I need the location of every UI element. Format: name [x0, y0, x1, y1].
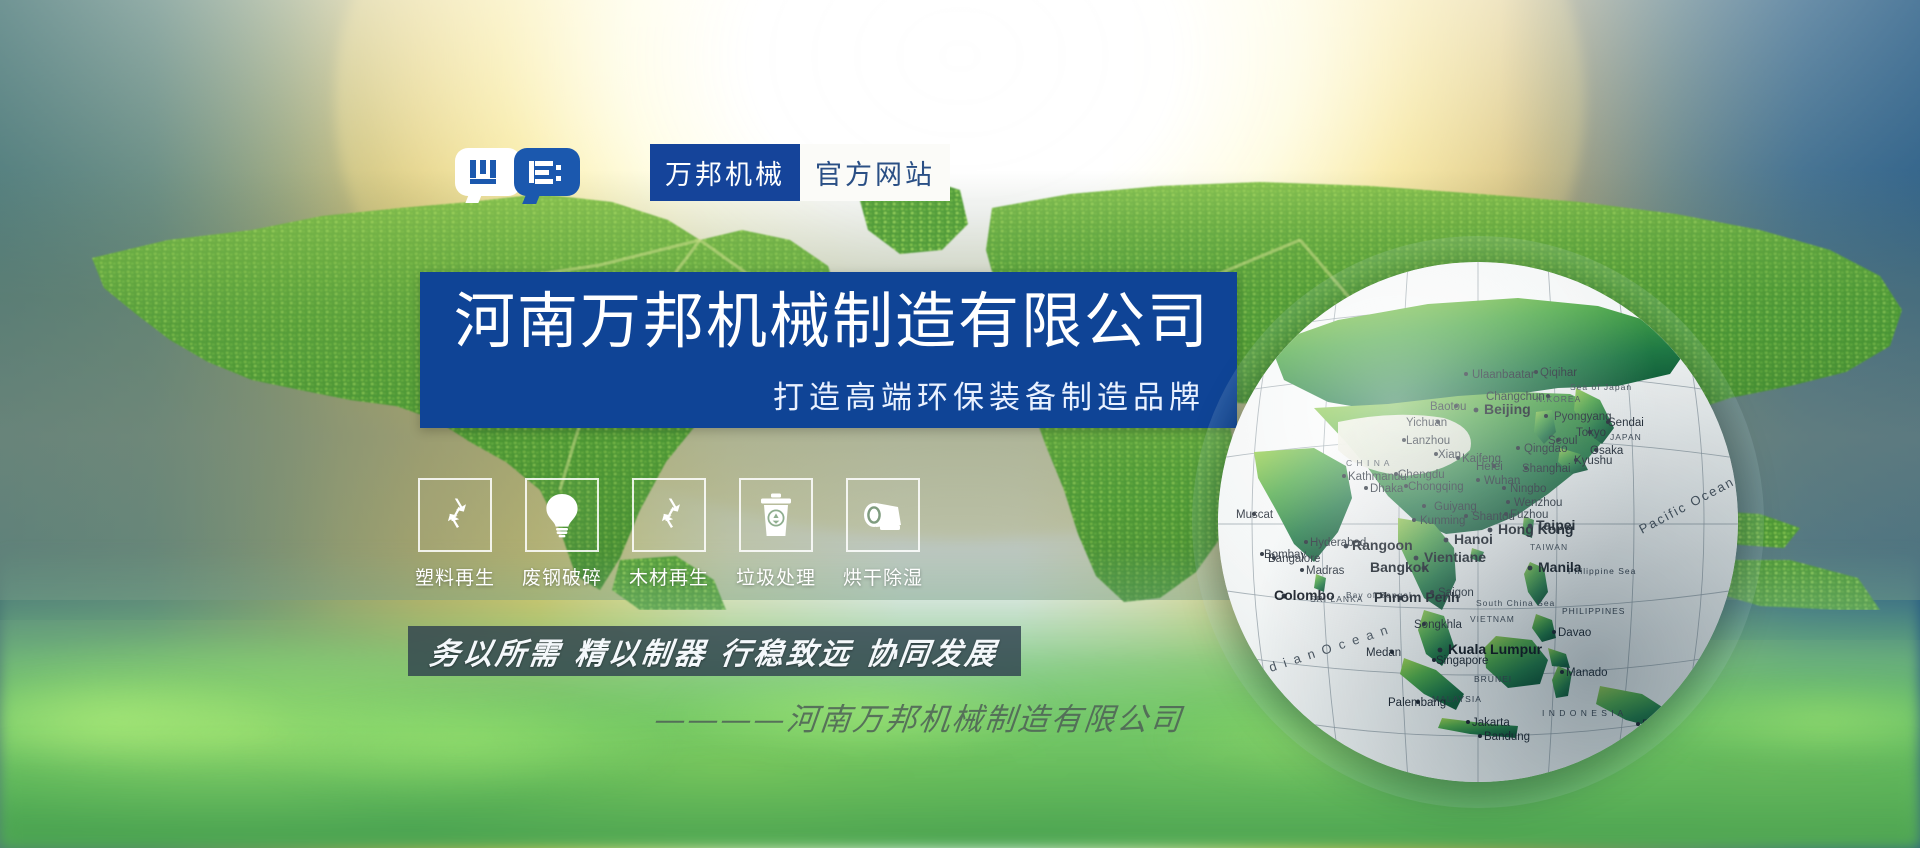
svg-text:Dhaka: Dhaka [1370, 483, 1404, 495]
svg-text:Jakarta: Jakarta [1472, 717, 1510, 729]
svg-text:Beijing: Beijing [1484, 401, 1531, 417]
feature-icon-row: 塑料再生 废钢破碎 [420, 478, 918, 590]
svg-text:Shantou: Shantou [1472, 511, 1515, 523]
svg-text:TAIWAN: TAIWAN [1530, 542, 1568, 552]
svg-text:Songkhla: Songkhla [1414, 619, 1463, 631]
feature-icon-frame [632, 478, 706, 552]
svg-text:Ulaanbaatar: Ulaanbaatar [1472, 369, 1535, 381]
svg-text:Muscat: Muscat [1236, 509, 1274, 521]
recycle-icon [433, 493, 477, 537]
feature-label: 烘干除湿 [843, 563, 923, 590]
brand-name-chip[interactable]: 万邦机械 [650, 144, 800, 201]
svg-text:VIETNAM: VIETNAM [1470, 614, 1515, 624]
svg-text:Vientiane: Vientiane [1424, 549, 1486, 565]
hero-title-box: 河南万邦机械制造有限公司 打造高端环保装备制造品牌 [420, 272, 1237, 428]
svg-text:Guiyang: Guiyang [1434, 501, 1477, 513]
feature-icon-frame [525, 478, 599, 552]
banner-stage: 万邦机械 官方网站 河南万邦机械制造有限公司 打造高端环保装备制造品牌 塑料再生 [0, 0, 1920, 848]
svg-text:Manado: Manado [1566, 667, 1608, 679]
svg-text:PHILIPPINES: PHILIPPINES [1562, 606, 1625, 616]
slogan-signature: ————河南万邦机械制造有限公司 [653, 694, 1186, 739]
svg-text:Ningbo: Ningbo [1510, 483, 1546, 495]
svg-text:Qingdao: Qingdao [1524, 443, 1567, 455]
svg-text:Bangalore: Bangalore [1268, 553, 1320, 565]
feature-label: 塑料再生 [415, 563, 495, 590]
svg-text:Qiqihar: Qiqihar [1540, 367, 1577, 379]
svg-text:Davao: Davao [1558, 627, 1591, 639]
feature-icon-frame [739, 478, 813, 552]
svg-text:Fuzhou: Fuzhou [1510, 509, 1548, 521]
svg-text:Shanghai: Shanghai [1522, 463, 1571, 475]
feature-label: 废钢破碎 [522, 563, 602, 590]
feature-item-waste-treatment[interactable]: 垃圾处理 [741, 478, 811, 590]
slogan-text: 务以所需 精以制器 行稳致远 协同发展 [428, 629, 1002, 673]
svg-text:I N D O N E S I A: I N D O N E S I A [1542, 708, 1624, 718]
letter-b-icon [529, 160, 563, 186]
svg-text:Kyushu: Kyushu [1574, 455, 1612, 467]
wb-speech-bubble-logo[interactable] [455, 148, 580, 196]
svg-text:Manila: Manila [1538, 559, 1582, 575]
lightbulb-icon [541, 492, 583, 538]
feature-icon-frame [846, 478, 920, 552]
svg-text:C H I N A: C H I N A [1346, 458, 1390, 468]
svg-text:Singapore: Singapore [1436, 655, 1488, 667]
feature-label: 木材再生 [629, 563, 709, 590]
blower-dryer-icon [860, 497, 906, 533]
trash-bin-icon [759, 492, 793, 538]
page-title: 河南万邦机械制造有限公司 [454, 291, 1210, 352]
svg-text:Pyongyang: Pyongyang [1554, 411, 1612, 423]
svg-text:South China Sea: South China Sea [1476, 598, 1555, 608]
svg-text:Tokyo: Tokyo [1576, 427, 1606, 439]
svg-text:Bandung: Bandung [1484, 731, 1530, 743]
svg-text:Changchun: Changchun [1486, 391, 1545, 403]
svg-text:Kunming: Kunming [1420, 515, 1465, 527]
svg-text:Palembang: Palembang [1388, 697, 1446, 709]
feature-label: 垃圾处理 [736, 563, 816, 590]
letter-w-icon [469, 160, 505, 186]
svg-text:Medan: Medan [1366, 647, 1401, 659]
globe-graphic: Pacific Ocean I n d i a n O c e a n Sout… [1218, 262, 1738, 782]
svg-text:Baotou: Baotou [1430, 401, 1466, 413]
svg-text:Lanzhou: Lanzhou [1406, 435, 1450, 447]
svg-text:Madras: Madras [1306, 565, 1345, 577]
slogan-banner: 务以所需 精以制器 行稳致远 协同发展 [408, 626, 1021, 676]
svg-text:Saigon: Saigon [1438, 587, 1474, 599]
svg-text:Hanoi: Hanoi [1454, 531, 1493, 547]
nav-chip-group: 万邦机械 官方网站 [650, 144, 950, 201]
svg-text:Sea of Japan: Sea of Japan [1570, 382, 1632, 392]
svg-text:Colombo: Colombo [1274, 587, 1335, 603]
page-subtitle: 打造高端环保装备制造品牌 [773, 372, 1205, 417]
svg-text:Wenzhou: Wenzhou [1514, 497, 1562, 509]
svg-text:Kaifeng: Kaifeng [1462, 453, 1501, 465]
recycle-icon [647, 493, 691, 537]
feature-icon-frame [418, 478, 492, 552]
svg-text:JAPAN: JAPAN [1610, 432, 1642, 442]
brand-header: 万邦机械 官方网站 [455, 143, 950, 201]
svg-text:Chongqing: Chongqing [1408, 481, 1464, 493]
feature-item-wood-recycling[interactable]: 木材再生 [634, 478, 704, 590]
official-site-chip[interactable]: 官方网站 [800, 144, 950, 201]
feature-item-drying-dehumidify[interactable]: 烘干除湿 [848, 478, 918, 590]
globe-sphere: Pacific Ocean I n d i a n O c e a n Sout… [1218, 262, 1738, 782]
svg-text:Yichuan: Yichuan [1406, 417, 1447, 429]
feature-item-steel-crushing[interactable]: 废钢破碎 [527, 478, 597, 590]
svg-text:Bangkok: Bangkok [1370, 559, 1429, 575]
svg-text:Sendai: Sendai [1608, 417, 1644, 429]
svg-text:BRUNEI: BRUNEI [1474, 674, 1512, 684]
feature-item-plastic-recycling[interactable]: 塑料再生 [420, 478, 490, 590]
svg-text:Hyderabad: Hyderabad [1310, 537, 1366, 549]
svg-text:Kathmandu: Kathmandu [1348, 471, 1407, 483]
